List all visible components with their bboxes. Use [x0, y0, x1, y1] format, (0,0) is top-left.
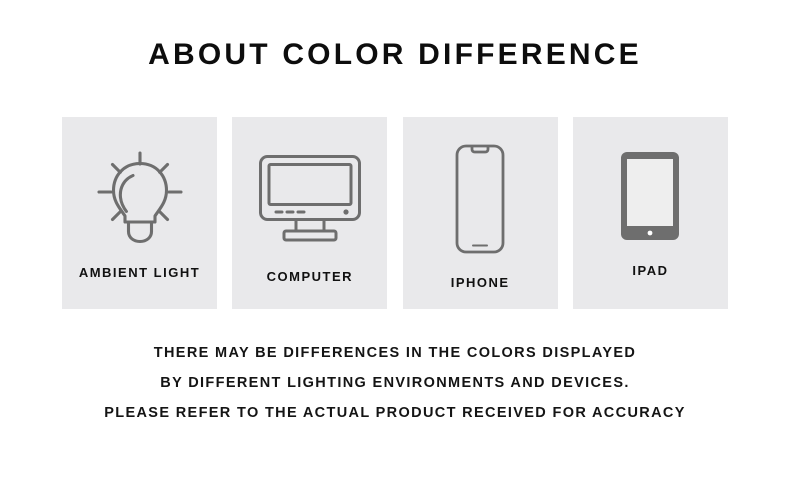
iphone-icon	[403, 139, 558, 259]
card-ambient-light: AMBIENT LIGHT	[62, 117, 217, 309]
desktop-monitor-icon	[232, 147, 387, 251]
card-label-ambient-light: AMBIENT LIGHT	[62, 265, 217, 280]
card-label-ipad: IPAD	[573, 263, 728, 278]
card-iphone: IPHONE	[403, 117, 558, 309]
card-ipad: IPAD	[573, 117, 728, 309]
device-cards-row: AMBIENT LIGHT	[62, 117, 728, 309]
note-line-1: THERE MAY BE DIFFERENCES IN THE COLORS D…	[0, 338, 790, 368]
ipad-icon	[573, 137, 728, 255]
card-label-computer: COMPUTER	[232, 269, 387, 284]
card-label-iphone: IPHONE	[403, 275, 558, 290]
note-line-2: BY DIFFERENT LIGHTING ENVIRONMENTS AND D…	[0, 368, 790, 398]
light-bulb-icon	[62, 143, 217, 253]
page-title: ABOUT COLOR DIFFERENCE	[0, 38, 790, 72]
card-computer: COMPUTER	[232, 117, 387, 309]
color-difference-note: THERE MAY BE DIFFERENCES IN THE COLORS D…	[0, 338, 790, 428]
note-line-3: PLEASE REFER TO THE ACTUAL PRODUCT RECEI…	[0, 398, 790, 428]
